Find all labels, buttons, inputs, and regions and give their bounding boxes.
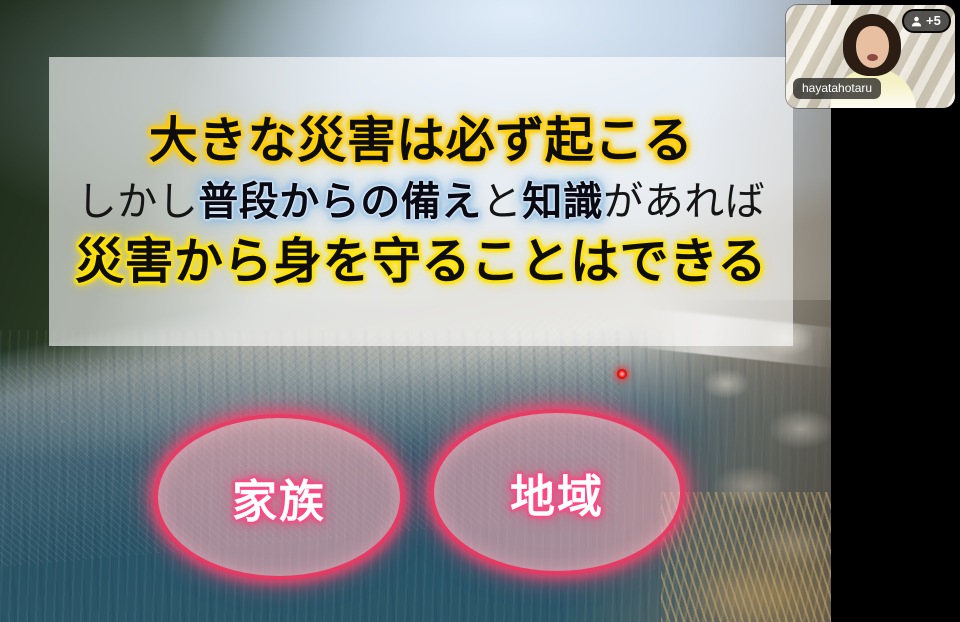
presentation-slide: 大きな災害は必ず起こる しかし普段からの備えと知識があれば 災害から身を守ること… <box>0 0 831 622</box>
laser-pointer-dot <box>617 369 627 379</box>
highlight-ellipse-region: 地域 <box>430 409 684 575</box>
speaker-face <box>856 26 889 68</box>
caption-line-2-part-5: があれば <box>603 180 765 224</box>
participants-count-label: +5 <box>926 14 941 28</box>
caption-line-2: しかし普段からの備えと知識があれば <box>77 182 766 222</box>
speaker-mouth <box>867 54 878 61</box>
caption-line-1: 大きな災害は必ず起こる <box>149 117 694 166</box>
highlight-ellipse-family: 家族 <box>154 414 404 580</box>
caption-line-2-part-4: 知識 <box>522 180 603 224</box>
ellipse-label-family: 家族 <box>232 465 326 530</box>
person-icon <box>910 15 923 28</box>
participant-name-label: hayatahotaru <box>793 78 881 99</box>
caption-line-3: 災害から身を守ることはできる <box>75 238 767 287</box>
dry-grass-patch <box>661 492 831 622</box>
caption-line-2-part-3: と <box>482 180 523 224</box>
caption-text-block: 大きな災害は必ず起こる しかし普段からの備えと知識があれば 災害から身を守ること… <box>49 57 793 346</box>
ellipse-label-region: 地域 <box>510 460 604 525</box>
screen-share-viewport: 大きな災害は必ず起こる しかし普段からの備えと知識があれば 災害から身を守ること… <box>0 0 960 622</box>
caption-line-2-part-1: しかし <box>77 180 199 224</box>
caption-line-2-part-2: 普段からの備え <box>198 180 482 224</box>
participants-count-badge[interactable]: +5 <box>902 9 951 33</box>
